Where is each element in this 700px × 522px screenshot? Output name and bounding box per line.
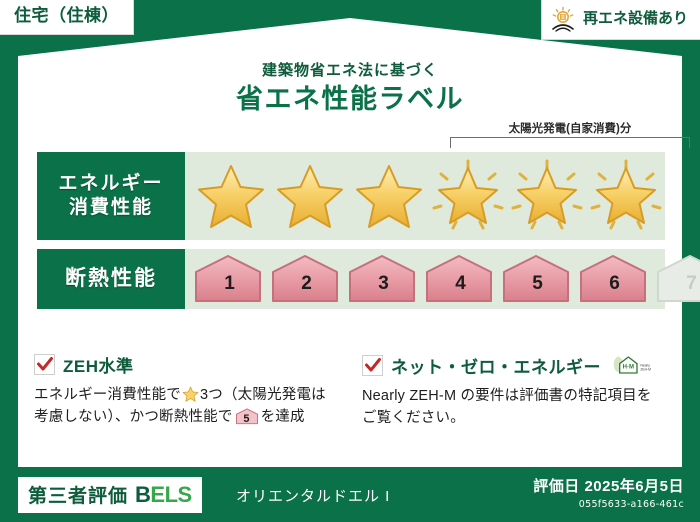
energy-star-panel: 太陽光発電(自家消費)分	[185, 152, 665, 240]
evaluation-date-label: 評価日	[533, 478, 580, 495]
zeh-criterion-title: ZEH水準	[63, 352, 134, 377]
star-3	[349, 152, 428, 240]
svg-text:ZEH-M: ZEH-M	[640, 367, 651, 371]
star-4-solar	[428, 152, 507, 240]
property-name: オリエンタルドエル I	[236, 485, 390, 506]
insulation-grade-6-number: 6	[578, 273, 651, 295]
zeh-desc-part1: エネルギー消費性能で	[34, 387, 181, 403]
energy-performance-label: 住宅（住棟） 再エネ設備あり 建築物省エネ法に基づく 省エネ性能ラベル	[0, 0, 700, 522]
renewable-tag-label: 再エネ設備あり	[583, 11, 688, 28]
star-2	[270, 152, 349, 240]
label-footer: 第三者評価 BELS オリエンタルドエル I 評価日 2025年6月5日 055…	[0, 467, 700, 522]
check-icon	[365, 358, 381, 373]
evaluation-date-block: 評価日 2025年6月5日 055f5633-a166-461c	[533, 475, 684, 510]
svg-text:H·M: H·M	[623, 365, 634, 371]
title-subtitle: 建築物省エネ法に基づく	[0, 62, 700, 80]
inline-house-number: 5	[235, 411, 259, 428]
insulation-grade-7: 7	[655, 253, 700, 305]
energy-label-line1: エネルギー	[58, 172, 163, 196]
renewable-equipment-tag: 再エネ設備あり	[541, 0, 700, 40]
nze-criterion-description: Nearly ZEH-M の要件は評価書の特記項目をご覧ください。	[362, 385, 652, 430]
star-5-solar	[507, 152, 586, 240]
insulation-grade-2: 2	[270, 253, 343, 305]
insulation-grade-5-number: 5	[501, 273, 574, 295]
bels-logo-els: ELS	[150, 482, 191, 507]
nearly-zeh-m-logo: H·M Nearly ZEH-M	[611, 352, 651, 378]
nze-checkbox[interactable]	[362, 355, 383, 376]
zeh-desc-part3: を達成	[261, 409, 305, 425]
insulation-grade-2-number: 2	[270, 273, 343, 295]
insulation-grade-badge-inline: 5	[235, 408, 259, 425]
star-1	[191, 152, 270, 240]
insulation-grade-scale: 1 2 3	[185, 249, 665, 309]
criteria-section: ZEH水準 エネルギー消費性能で3つ（太陽光発電は考慮しない）、かつ断熱性能で5…	[34, 352, 666, 430]
bels-badge: 第三者評価 BELS	[18, 477, 202, 513]
insulation-grade-5: 5	[501, 253, 574, 305]
insulation-performance-label: 断熱性能	[37, 249, 185, 309]
evaluation-date: 評価日 2025年6月5日	[533, 475, 684, 496]
insulation-grade-1-number: 1	[193, 273, 266, 295]
label-title-block: 建築物省エネ法に基づく 省エネ性能ラベル	[0, 62, 700, 117]
energy-performance-label: エネルギー 消費性能	[37, 152, 185, 240]
evaluation-date-value: 2025年6月5日	[584, 478, 684, 495]
energy-performance-row: エネルギー 消費性能 太陽光発電(自家消費)分	[37, 152, 665, 240]
insulation-grade-4: 4	[424, 253, 497, 305]
page-title: 省エネ性能ラベル	[0, 83, 700, 117]
insulation-grade-6: 6	[578, 253, 651, 305]
insulation-performance-row: 断熱性能 1	[37, 249, 665, 309]
insulation-grade-3-number: 3	[347, 273, 420, 295]
check-icon	[37, 357, 53, 372]
insulation-grade-7-number: 7	[655, 273, 700, 295]
solar-sun-icon	[550, 6, 576, 32]
bels-logo: BELS	[135, 482, 192, 508]
building-type-tag: 住宅（住棟）	[0, 0, 134, 35]
star-rating	[185, 152, 665, 240]
solar-bracket	[450, 137, 690, 148]
insulation-grade-1: 1	[193, 253, 266, 305]
insulation-grade-4-number: 4	[424, 273, 497, 295]
performance-rows: エネルギー 消費性能 太陽光発電(自家消費)分	[37, 152, 665, 318]
bels-logo-b: B	[135, 482, 150, 507]
insulation-grade-panel: 1 2 3	[185, 249, 665, 309]
bels-japanese-label: 第三者評価	[28, 481, 128, 508]
solar-bracket-label: 太陽光発電(自家消費)分	[445, 120, 695, 136]
star-icon	[182, 386, 199, 402]
criterion-net-zero-energy: ネット・ゼロ・エネルギー H·M Nearly ZEH-M Nearly ZEH…	[350, 352, 666, 430]
evaluation-id: 055f5633-a166-461c	[533, 499, 684, 510]
criterion-zeh-header: ZEH水準	[34, 352, 336, 377]
insulation-grade-3: 3	[347, 253, 420, 305]
nze-criterion-title: ネット・ゼロ・エネルギー	[391, 353, 601, 378]
criterion-zeh-standard: ZEH水準 エネルギー消費性能で3つ（太陽光発電は考慮しない）、かつ断熱性能で5…	[34, 352, 350, 430]
energy-label-line2: 消費性能	[69, 196, 153, 220]
criterion-nze-header: ネット・ゼロ・エネルギー H·M Nearly ZEH-M	[362, 352, 652, 378]
star-6-solar	[586, 152, 665, 240]
zeh-criterion-description: エネルギー消費性能で3つ（太陽光発電は考慮しない）、かつ断熱性能で5を達成	[34, 384, 336, 429]
zeh-checkbox[interactable]	[34, 354, 55, 375]
